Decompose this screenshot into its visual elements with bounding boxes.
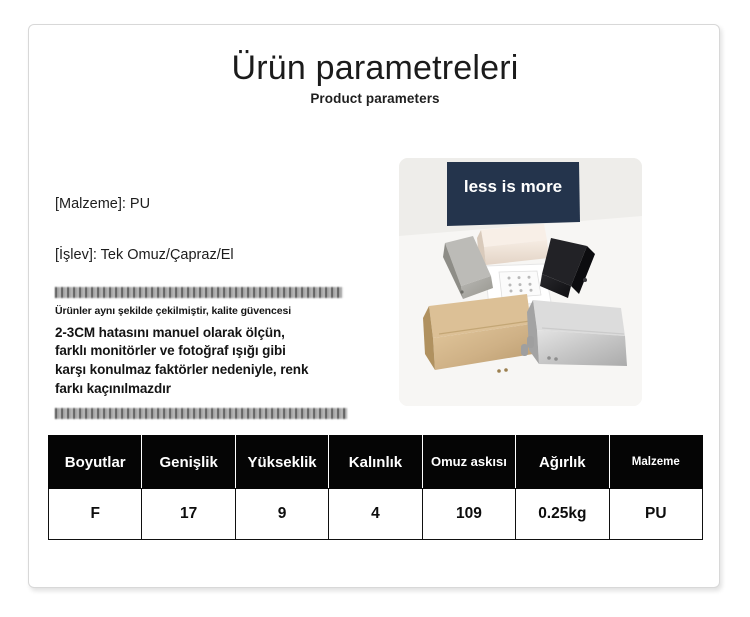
table-header-cell: Kalınlık (329, 436, 422, 489)
table-header-cell: Malzeme (609, 436, 702, 489)
table-cell: 17 (142, 489, 235, 540)
product-photo-scene: less is more (399, 158, 642, 406)
product-photo: less is more (399, 158, 642, 406)
redacted-bar-top (55, 287, 343, 298)
product-parameter-card: Ürün parametreleri Product parameters [M… (28, 24, 720, 588)
table-header-cell: Genişlik (142, 436, 235, 489)
quality-note: Ürünler aynı şekilde çekilmiştir, kalite… (55, 305, 295, 318)
cream-bag (477, 224, 549, 265)
poster-text: less is more (464, 177, 562, 196)
table-header-row: Boyutlar Genişlik Yükseklik Kalınlık Omu… (49, 436, 703, 489)
measurement-disclaimer: 2-3CM hatasını manuel olarak ölçün, fark… (55, 324, 317, 399)
table-row: F 17 9 4 109 0.25kg PU (49, 489, 703, 540)
page-title: Ürün parametreleri (29, 49, 721, 88)
redacted-bar-bottom (55, 408, 347, 419)
silver-bag (527, 300, 627, 366)
table-cell: PU (609, 489, 702, 540)
spec-text-column: [Malzeme]: PU [İşlev]: Tek Omuz/Çapraz/E… (55, 195, 367, 419)
table-cell: 4 (329, 489, 422, 540)
spec-function: [İşlev]: Tek Omuz/Çapraz/El (55, 246, 367, 265)
table-header-cell: Omuz askısı (422, 436, 515, 489)
table-cell: F (49, 489, 142, 540)
spec-material: [Malzeme]: PU (55, 195, 367, 214)
table-header-cell: Boyutlar (49, 436, 142, 489)
page-subtitle: Product parameters (29, 91, 721, 106)
table-cell: 9 (235, 489, 328, 540)
table-header-cell: Yükseklik (235, 436, 328, 489)
specification-table: Boyutlar Genişlik Yükseklik Kalınlık Omu… (48, 435, 703, 540)
table-cell: 109 (422, 489, 515, 540)
table-cell: 0.25kg (516, 489, 609, 540)
table-header-cell: Ağırlık (516, 436, 609, 489)
